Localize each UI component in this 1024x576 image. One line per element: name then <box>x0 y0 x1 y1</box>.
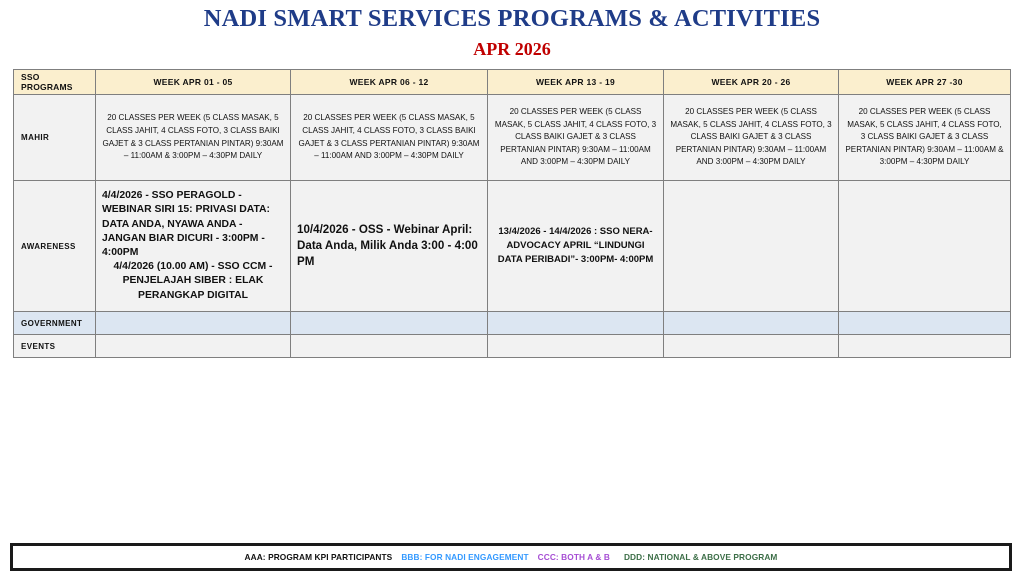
table-header: SSO PROGRAMS WEEK APR 01 - 05 WEEK APR 0… <box>14 70 1011 95</box>
cell-awareness-week-1: 4/4/2026 - SSO PERAGOLD - WEBINAR SIRI 1… <box>96 181 291 312</box>
cell-mahir-week-1: 20 CLASSES PER WEEK (5 CLASS MASAK, 5 CL… <box>96 95 291 181</box>
row-label-awareness: AWARENESS <box>14 181 96 312</box>
column-header-week-3: WEEK APR 13 - 19 <box>488 70 664 95</box>
cell-mahir-week-5: 20 CLASSES PER WEEK (5 CLASS MASAK, 5 CL… <box>839 95 1011 181</box>
cell-events-week-2 <box>291 335 488 358</box>
table-row: GOVERNMENT <box>14 312 1011 335</box>
awareness-week-1-entry-2: 4/4/2026 (10.00 AM) - SSO CCM - PENJELAJ… <box>102 260 284 303</box>
legend-item-aaa: AAA: PROGRAM KPI PARTICIPANTS <box>245 552 393 562</box>
column-header-week-5: WEEK APR 27 -30 <box>839 70 1011 95</box>
legend-item-bbb: BBB: FOR NADI ENGAGEMENT <box>401 552 528 562</box>
row-label-mahir: MAHIR <box>14 95 96 181</box>
row-label-events: EVENTS <box>14 335 96 358</box>
table-header-row: SSO PROGRAMS WEEK APR 01 - 05 WEEK APR 0… <box>14 70 1011 95</box>
cell-events-week-5 <box>839 335 1011 358</box>
column-header-week-4: WEEK APR 20 - 26 <box>664 70 839 95</box>
cell-government-week-4 <box>664 312 839 335</box>
awareness-week-1-entry-1: 4/4/2026 - SSO PERAGOLD - WEBINAR SIRI 1… <box>102 189 284 260</box>
cell-mahir-week-4: 20 CLASSES PER WEEK (5 CLASS MASAK, 5 CL… <box>664 95 839 181</box>
cell-awareness-week-2: 10/4/2026 - OSS - Webinar April: Data An… <box>291 181 488 312</box>
cell-mahir-week-2: 20 CLASSES PER WEEK (5 CLASS MASAK, 5 CL… <box>291 95 488 181</box>
legend-item-ddd: DDD: NATIONAL & ABOVE PROGRAM <box>624 552 777 562</box>
table-row: MAHIR 20 CLASSES PER WEEK (5 CLASS MASAK… <box>14 95 1011 181</box>
table-row: EVENTS <box>14 335 1011 358</box>
row-label-government: GOVERNMENT <box>14 312 96 335</box>
cell-events-week-3 <box>488 335 664 358</box>
awareness-week-2-entry-1: 10/4/2026 - OSS - Webinar April: Data An… <box>297 222 481 270</box>
cell-government-week-3 <box>488 312 664 335</box>
cell-government-week-1 <box>96 312 291 335</box>
column-header-week-1: WEEK APR 01 - 05 <box>96 70 291 95</box>
cell-awareness-week-4 <box>664 181 839 312</box>
cell-awareness-week-3: 13/4/2026 - 14/4/2026 : SSO NERA- ADVOCA… <box>488 181 664 312</box>
schedule-table: SSO PROGRAMS WEEK APR 01 - 05 WEEK APR 0… <box>13 69 1011 358</box>
table-row: AWARENESS 4/4/2026 - SSO PERAGOLD - WEBI… <box>14 181 1011 312</box>
page-subtitle: APR 2026 <box>0 37 1024 61</box>
title-block: NADI SMART SERVICES PROGRAMS & ACTIVITIE… <box>0 4 1024 61</box>
column-header-week-2: WEEK APR 06 - 12 <box>291 70 488 95</box>
page-title: NADI SMART SERVICES PROGRAMS & ACTIVITIE… <box>0 4 1024 34</box>
cell-mahir-week-3: 20 CLASSES PER WEEK (5 CLASS MASAK, 5 CL… <box>488 95 664 181</box>
awareness-week-3-entry-1: 13/4/2026 - 14/4/2026 : SSO NERA- ADVOCA… <box>494 225 657 267</box>
legend-text: AAA: PROGRAM KPI PARTICIPANTSBBB: FOR NA… <box>245 552 778 562</box>
schedule-page: NADI SMART SERVICES PROGRAMS & ACTIVITIE… <box>0 0 1024 576</box>
column-header-sso-programs: SSO PROGRAMS <box>14 70 96 95</box>
legend-item-ccc: CCC: BOTH A & B <box>538 552 610 562</box>
cell-awareness-week-5 <box>839 181 1011 312</box>
cell-government-week-2 <box>291 312 488 335</box>
cell-events-week-4 <box>664 335 839 358</box>
cell-government-week-5 <box>839 312 1011 335</box>
cell-events-week-1 <box>96 335 291 358</box>
legend-box: AAA: PROGRAM KPI PARTICIPANTSBBB: FOR NA… <box>10 543 1012 571</box>
